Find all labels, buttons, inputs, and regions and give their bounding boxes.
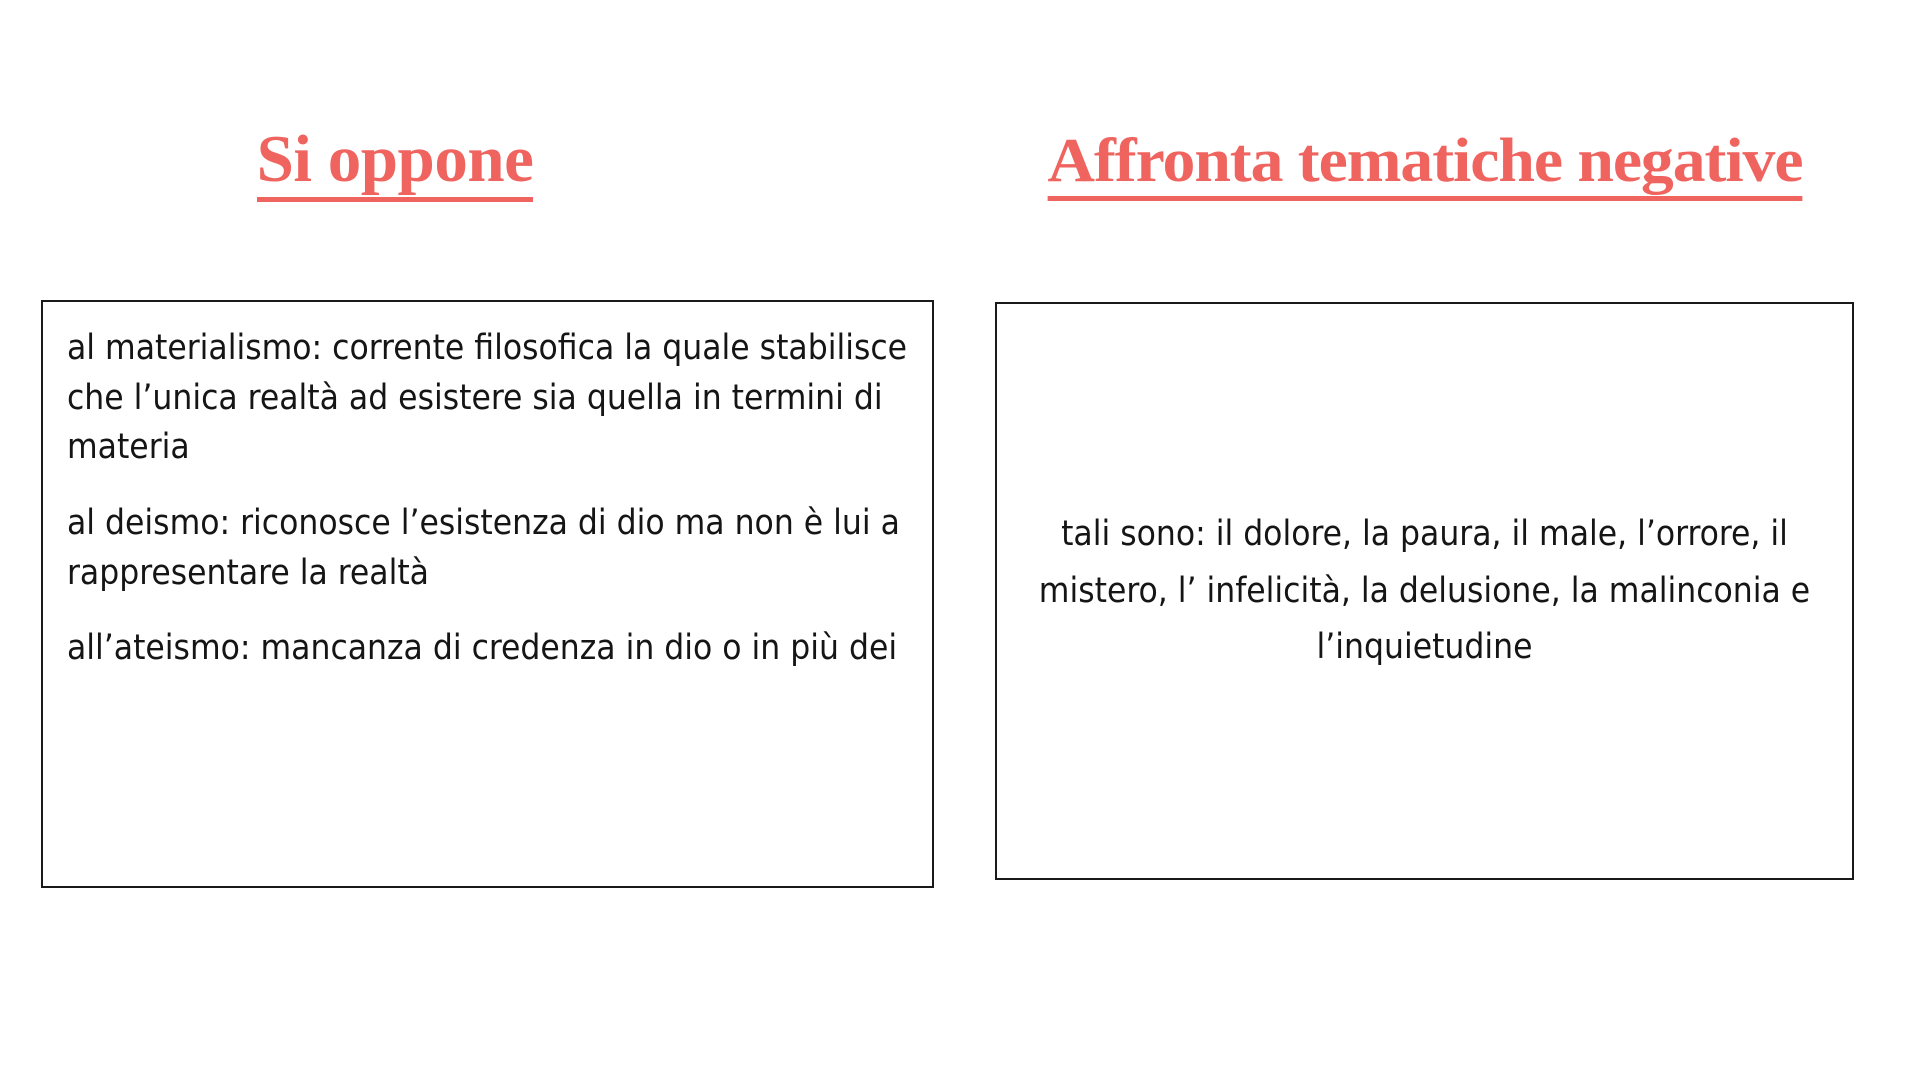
paragraph-deismo: al deismo: riconosce l’esistenza di dio … — [67, 499, 908, 598]
paragraph-ateismo: all’ateismo: mancanza di credenza in dio… — [67, 624, 908, 674]
paragraph-tali-sono: tali sono: il dolore, la paura, il male,… — [1023, 506, 1826, 676]
heading-si-oppone: Si oppone — [0, 126, 790, 202]
text-box-tematiche-negative: tali sono: il dolore, la paura, il male,… — [995, 302, 1854, 880]
slide-canvas: Si oppone Affronta tematiche negative al… — [0, 0, 1920, 1080]
text-box-si-oppone: al materialismo: corrente filosofica la … — [41, 300, 934, 888]
heading-si-oppone-text: Si oppone — [257, 126, 534, 202]
paragraph-materialismo: al materialismo: corrente filosofica la … — [67, 324, 908, 473]
heading-affronta-tematiche-negative-text: Affronta tematiche negative — [1048, 130, 1803, 201]
heading-affronta-tematiche-negative: Affronta tematiche negative — [969, 130, 1881, 201]
